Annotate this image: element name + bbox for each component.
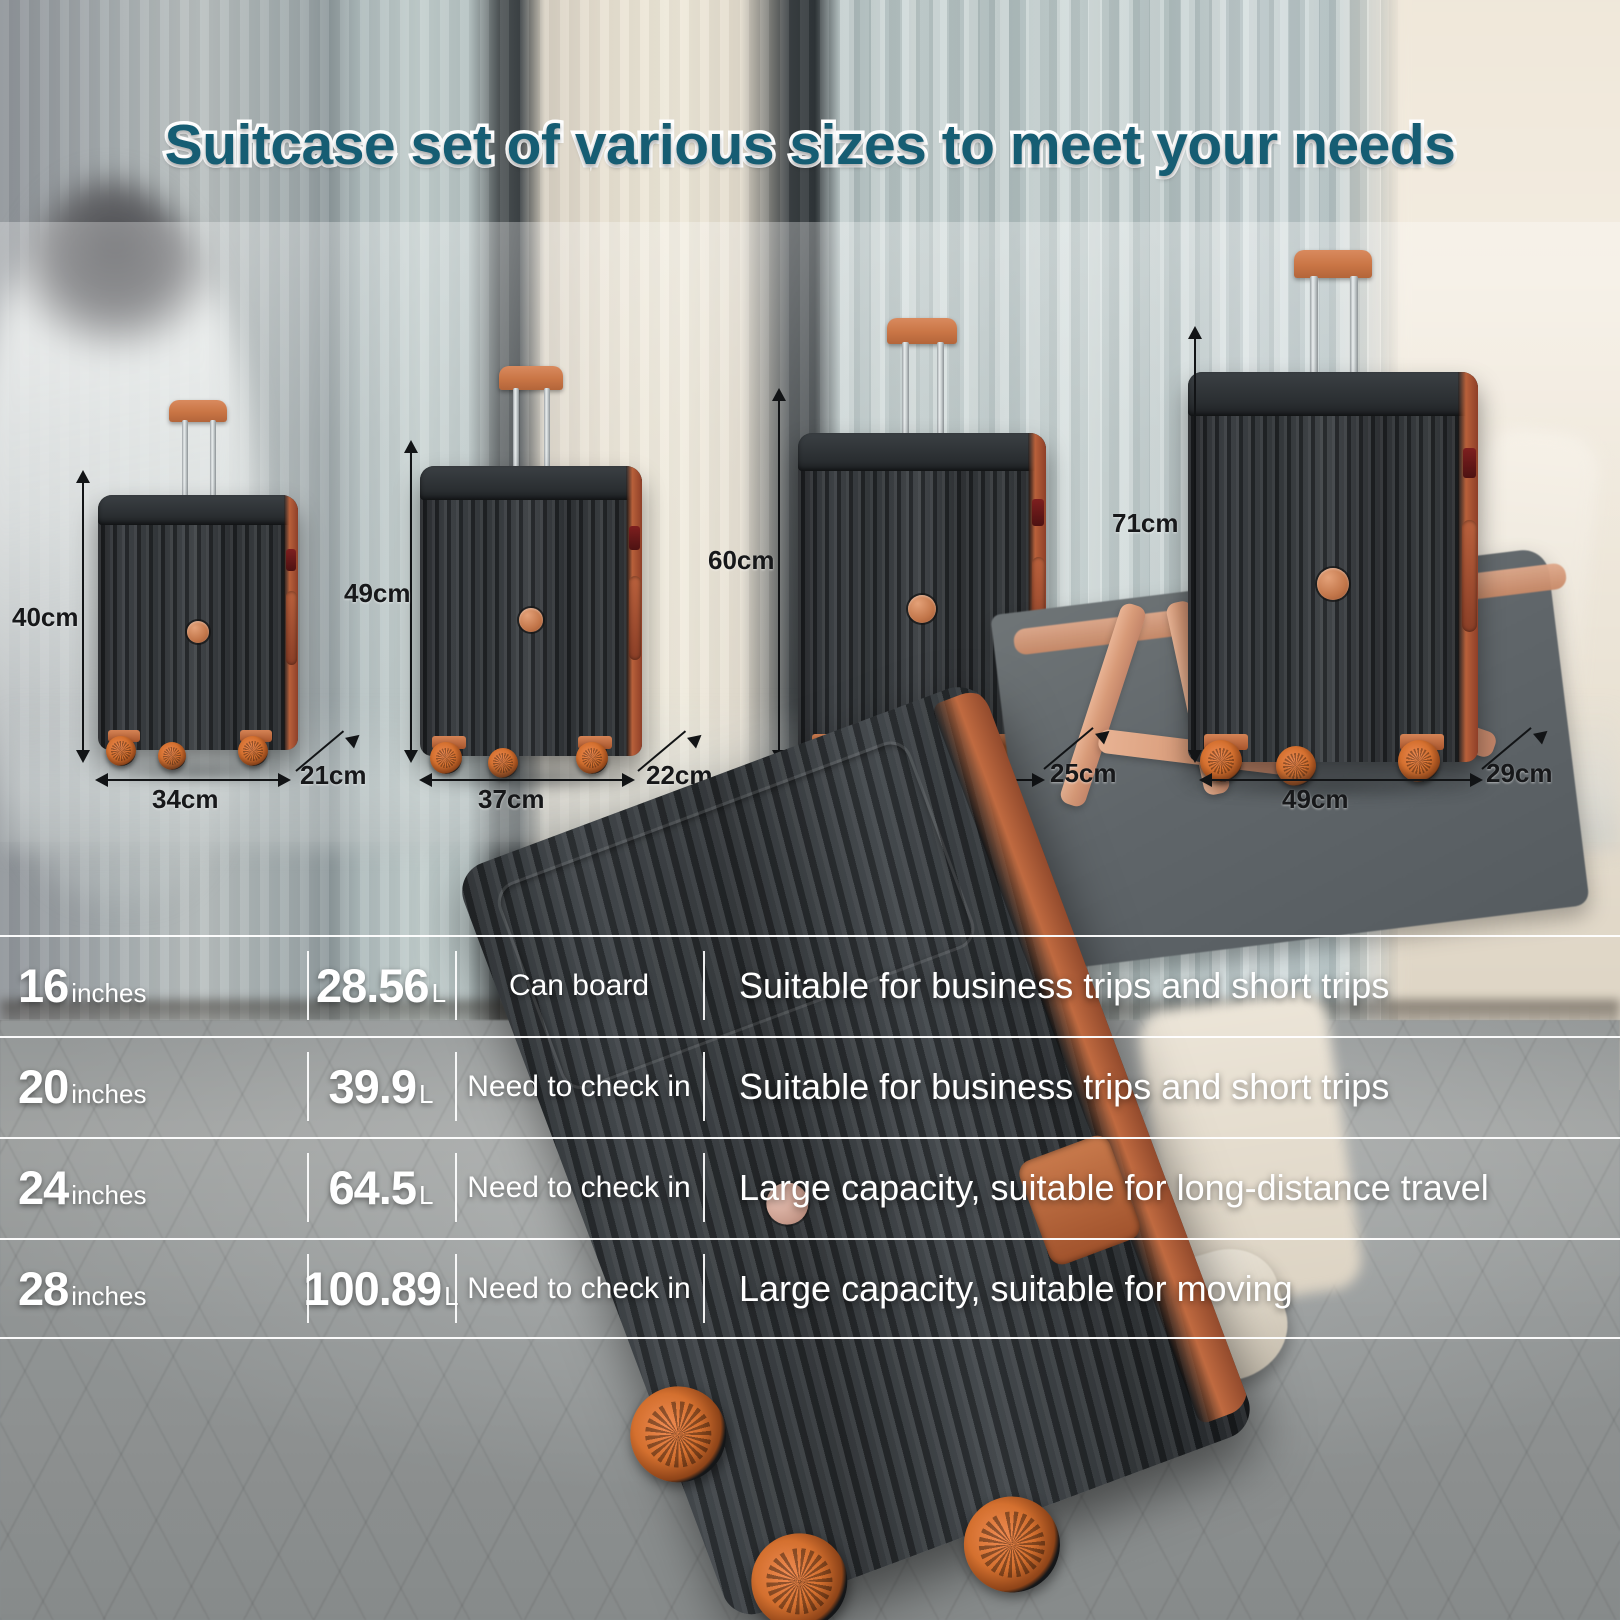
size-number: 24: [18, 1160, 68, 1215]
size-number: 20: [18, 1059, 68, 1114]
dimension-arrow-right-2: [622, 773, 635, 787]
cell-description: Large capacity, suitable for long-distan…: [703, 1167, 1620, 1209]
dimension-line-width-4: [1210, 779, 1472, 781]
table-row: 20 inches 39.9 L Need to check in Suitab…: [0, 1036, 1620, 1137]
dimension-label-depth-3: 25cm: [1050, 758, 1117, 789]
dimension-label-width-4: 49cm: [1282, 784, 1349, 815]
dimension-label-height-1: 40cm: [12, 602, 79, 633]
cell-description: Suitable for business trips and short tr…: [703, 965, 1620, 1007]
dimension-label-width-2: 37cm: [478, 784, 545, 815]
cell-size: 20 inches: [0, 1059, 307, 1114]
dimension-line-height-4: [1194, 338, 1196, 752]
brand-badge: [1317, 568, 1349, 600]
column-divider: [455, 1052, 457, 1121]
suitcase-top-cap: [798, 433, 1046, 471]
cell-volume: 28.56 L: [307, 958, 455, 1013]
brand-badge: [519, 608, 543, 632]
size-number: 16: [18, 958, 68, 1013]
dimension-arrow-up-4: [1188, 326, 1202, 339]
handle-stem-right: [937, 342, 944, 438]
cell-boarding: Need to check in: [455, 1070, 703, 1104]
column-divider: [307, 1254, 309, 1323]
dimension-line-width-2: [430, 779, 624, 781]
suitcase-body: [420, 466, 642, 756]
suitcase-top-cap: [98, 495, 298, 525]
dimension-line-height-3: [778, 400, 780, 752]
dimension-label-height-2: 49cm: [344, 578, 411, 609]
dimension-arrow-right-1: [278, 773, 291, 787]
handle-stem-left: [182, 420, 188, 498]
table-row: 16 inches 28.56 L Can board Suitable for…: [0, 935, 1620, 1036]
dimension-label-width-1: 34cm: [152, 784, 219, 815]
telescoping-handle-grip: [1294, 250, 1372, 278]
handle-stem-right: [210, 420, 216, 498]
suitcase-20-inch: [420, 366, 642, 756]
dimension-label-depth-1: 21cm: [300, 760, 367, 791]
telescoping-handle-grip: [169, 400, 227, 422]
cell-description: Suitable for business trips and short tr…: [703, 1066, 1620, 1108]
cell-boarding: Can board: [455, 969, 703, 1003]
dimension-arrow-left-4: [1199, 773, 1212, 787]
row-divider: [0, 935, 1620, 937]
cell-volume: 39.9 L: [307, 1059, 455, 1114]
dimension-arrow-up-1: [76, 470, 90, 483]
column-divider: [307, 1052, 309, 1121]
handle-stem-right: [544, 388, 550, 474]
column-divider: [307, 1153, 309, 1222]
dimension-arrow-left-2: [419, 773, 432, 787]
volume-number: 100.89: [303, 1261, 441, 1316]
size-unit: inches: [71, 1180, 146, 1211]
dimension-arrow-right-3: [1032, 773, 1045, 787]
suitcase-top-cap: [420, 466, 642, 500]
cell-boarding: Need to check in: [455, 1272, 703, 1306]
side-carry-handle: [629, 576, 641, 660]
handle-stem-left: [902, 342, 909, 438]
tsa-lock: [1032, 499, 1044, 526]
table-row: 28 inches 100.89 L Need to check in Larg…: [0, 1238, 1620, 1339]
size-unit: inches: [71, 1079, 146, 1110]
column-divider: [703, 951, 705, 1020]
side-carry-handle: [286, 591, 297, 665]
suitcase-top-cap: [1188, 372, 1478, 416]
cell-volume: 100.89 L: [307, 1261, 455, 1316]
table-bottom-divider: [0, 1337, 1620, 1339]
handle-stem-left: [1310, 276, 1318, 380]
volume-unit: L: [419, 1079, 433, 1110]
suitcase-body: [1188, 372, 1478, 762]
tsa-lock: [629, 526, 640, 550]
column-divider: [703, 1254, 705, 1323]
dimension-arrow-left-1: [95, 773, 108, 787]
size-unit: inches: [71, 978, 146, 1009]
dimension-line-height-1: [82, 482, 84, 752]
specification-table: 16 inches 28.56 L Can board Suitable for…: [0, 935, 1620, 1339]
dimension-arrow-down-2: [404, 750, 418, 763]
tsa-lock: [1463, 448, 1476, 478]
suitcase-28-inch: [1188, 250, 1478, 762]
row-divider: [0, 1036, 1620, 1038]
volume-unit: L: [419, 1180, 433, 1211]
brand-badge: [187, 621, 209, 643]
cell-size: 24 inches: [0, 1160, 307, 1215]
volume-number: 64.5: [329, 1160, 416, 1215]
column-divider: [703, 1153, 705, 1222]
dimension-arrow-down-1: [76, 750, 90, 763]
cell-volume: 64.5 L: [307, 1160, 455, 1215]
telescoping-handle-grip: [887, 318, 957, 344]
suitcase-16-inch: [98, 400, 298, 750]
product-infographic: Suitcase set of various sizes to meet yo…: [0, 0, 1620, 1620]
page-title: Suitcase set of various sizes to meet yo…: [0, 112, 1620, 178]
cell-boarding: Need to check in: [455, 1171, 703, 1205]
row-divider: [0, 1238, 1620, 1240]
dimension-line-width-1: [106, 779, 280, 781]
dimension-arrow-up-2: [404, 440, 418, 453]
column-divider: [455, 951, 457, 1020]
brand-badge: [908, 595, 936, 623]
dimension-label-depth-4: 29cm: [1486, 758, 1553, 789]
dimension-label-height-3: 60cm: [708, 545, 775, 576]
table-row: 24 inches 64.5 L Need to check in Large …: [0, 1137, 1620, 1238]
suitcase-body: [98, 495, 298, 750]
volume-unit: L: [432, 978, 446, 1009]
dimension-arrow-down-4: [1188, 750, 1202, 763]
cell-description: Large capacity, suitable for moving: [703, 1268, 1620, 1310]
column-divider: [307, 951, 309, 1020]
dimension-label-height-4: 71cm: [1112, 508, 1179, 539]
handle-stem-left: [513, 388, 519, 474]
tsa-lock: [286, 549, 296, 571]
column-divider: [703, 1052, 705, 1121]
volume-number: 39.9: [329, 1059, 416, 1114]
ribbed-shell-texture: [1188, 372, 1478, 762]
size-number: 28: [18, 1261, 68, 1316]
cell-size: 28 inches: [0, 1261, 307, 1316]
spinner-wheel: [106, 736, 136, 766]
side-carry-handle: [1462, 520, 1477, 632]
volume-number: 28.56: [316, 958, 429, 1013]
row-divider: [0, 1137, 1620, 1139]
cell-size: 16 inches: [0, 958, 307, 1013]
column-divider: [455, 1254, 457, 1323]
size-unit: inches: [71, 1281, 146, 1312]
telescoping-handle-grip: [499, 366, 563, 390]
dimension-arrow-right-4: [1470, 773, 1483, 787]
column-divider: [455, 1153, 457, 1222]
handle-stem-right: [1350, 276, 1358, 380]
dimension-arrow-up-3: [772, 388, 786, 401]
